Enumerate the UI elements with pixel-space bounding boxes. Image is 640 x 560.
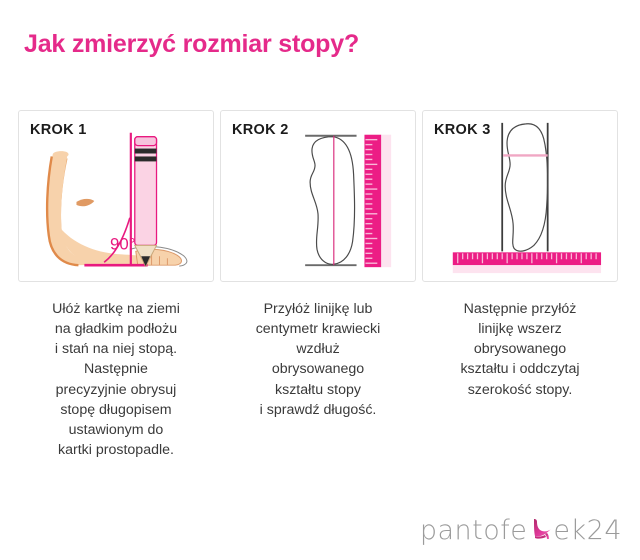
step-1-label: KROK 1 (30, 122, 87, 138)
step-2-illustration-panel: KROK 2 (220, 110, 416, 282)
step-3-label: KROK 3 (434, 122, 491, 138)
steps-row: KROK 1 (18, 110, 622, 460)
step-column-1: KROK 1 (18, 110, 214, 460)
leg-top-shape (53, 151, 69, 157)
brand-text-after: ek24 (553, 515, 622, 546)
pencil-band-1 (135, 149, 157, 154)
brand-text-before: pantofe (420, 515, 528, 546)
high-heel-shoe-icon (527, 516, 553, 542)
foot-outline-shape (310, 137, 354, 265)
foot-outline-shape (505, 124, 548, 251)
angle-label: 90° (110, 234, 135, 253)
step-column-2: KROK 2 (220, 110, 416, 460)
step-1-caption: Ułóż kartkę na ziemi na gładkim podłożu … (18, 299, 214, 460)
brand-logo[interactable]: pantofe ek24 (420, 513, 622, 546)
step-2-caption: Przyłóż linijkę lub centymetr krawiecki … (220, 299, 416, 420)
pencil-icon (135, 137, 157, 266)
step-3-illustration-panel: KROK 3 (422, 110, 618, 282)
vertical-ruler-icon (364, 135, 391, 267)
page-title: Jak zmierzyć rozmiar stopy? (24, 30, 359, 59)
shoe-heel (545, 533, 549, 539)
shoe-body (534, 519, 551, 536)
horizontal-ruler-icon (453, 252, 601, 273)
pencil-eraser (135, 137, 157, 146)
ankle-bone-mark (76, 199, 94, 206)
step-3-caption: Następnie przyłóż linijkę wszerz obrysow… (422, 299, 618, 400)
step-1-illustration-panel: KROK 1 (18, 110, 214, 282)
step-2-label: KROK 2 (232, 122, 289, 138)
ruler-edge-strip (381, 135, 391, 267)
ruler-edge-strip (453, 265, 601, 273)
step-column-3: KROK 3 (422, 110, 618, 460)
pencil-band-2 (135, 156, 157, 161)
